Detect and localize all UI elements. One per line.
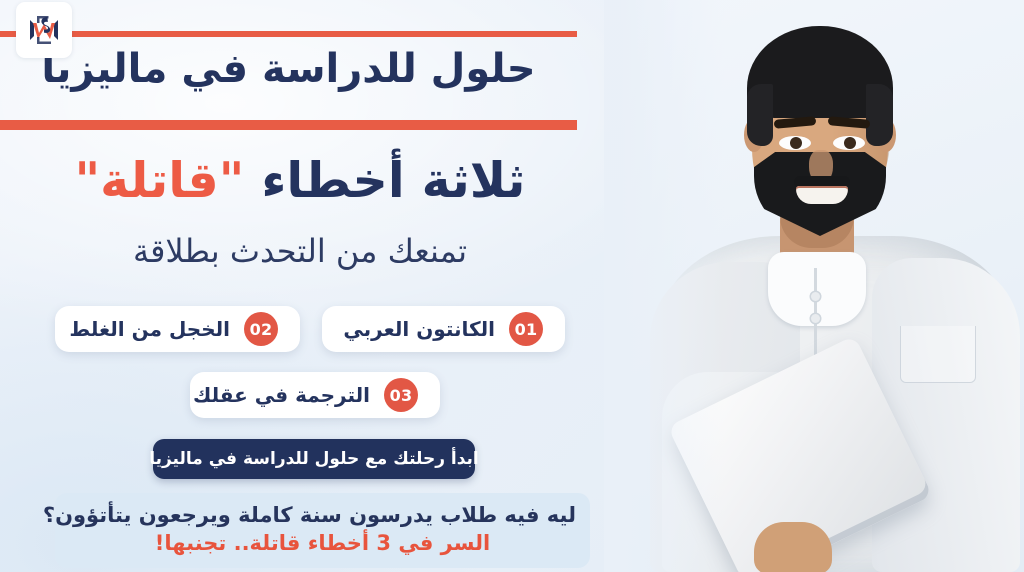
pupil-right bbox=[844, 137, 856, 149]
smiling-mouth bbox=[796, 186, 848, 204]
mistake-card-01[interactable]: 01 الكانتون العربي bbox=[322, 306, 565, 352]
mistake-card-03[interactable]: 03 الترجمة في عقلك bbox=[190, 372, 440, 418]
hand bbox=[754, 522, 832, 572]
presenter-photo bbox=[604, 0, 1024, 572]
card-number-badge: 01 bbox=[509, 312, 543, 346]
pupil-left bbox=[790, 137, 802, 149]
collar-button-top bbox=[811, 292, 820, 301]
card-label: الترجمة في عقلك bbox=[193, 385, 370, 405]
brand-logo[interactable] bbox=[16, 2, 72, 58]
cta-button[interactable]: ابدأ رحلتك مع حلول للدراسة في ماليزيا bbox=[153, 439, 475, 479]
caption-box: ليه فيه طلاب يدرسون سنة كاملة ويرجعون يت… bbox=[55, 493, 590, 568]
content-column: حلول للدراسة في ماليزيا ثلاثة أخطاء "قات… bbox=[0, 0, 620, 572]
promo-banner: حلول للدراسة في ماليزيا ثلاثة أخطاء "قات… bbox=[0, 0, 1024, 572]
collar-button-bottom bbox=[811, 314, 820, 323]
hair-fade-left bbox=[747, 84, 773, 146]
page-title: حلول للدراسة في ماليزيا bbox=[0, 46, 577, 92]
photo-edge-fade bbox=[604, 0, 724, 572]
shoulder-right bbox=[872, 258, 1020, 572]
card-number-badge: 03 bbox=[384, 378, 418, 412]
headline-accent: "قاتلة" bbox=[75, 152, 245, 209]
caption-line-2: السر في 3 أخطاء قاتلة.. تجنبها! bbox=[69, 530, 576, 558]
divider-rule-middle bbox=[0, 120, 577, 130]
card-label: الخجل من الغلط bbox=[69, 319, 230, 339]
mistake-card-02[interactable]: 02 الخجل من الغلط bbox=[55, 306, 300, 352]
hair-fade-right bbox=[866, 84, 893, 146]
headline-part1: ثلاثة أخطاء bbox=[244, 152, 525, 209]
headline-subtitle: تمنعك من التحدث بطلاقة bbox=[0, 232, 600, 270]
caption-line-1: ليه فيه طلاب يدرسون سنة كاملة ويرجعون يت… bbox=[69, 502, 576, 530]
monogram-logo-icon bbox=[24, 10, 64, 50]
chest-pocket bbox=[900, 326, 976, 383]
card-label: الكانتون العربي bbox=[343, 319, 495, 339]
divider-rule-top bbox=[0, 31, 577, 37]
card-number-badge: 02 bbox=[244, 312, 278, 346]
headline: ثلاثة أخطاء "قاتلة" bbox=[0, 152, 600, 210]
